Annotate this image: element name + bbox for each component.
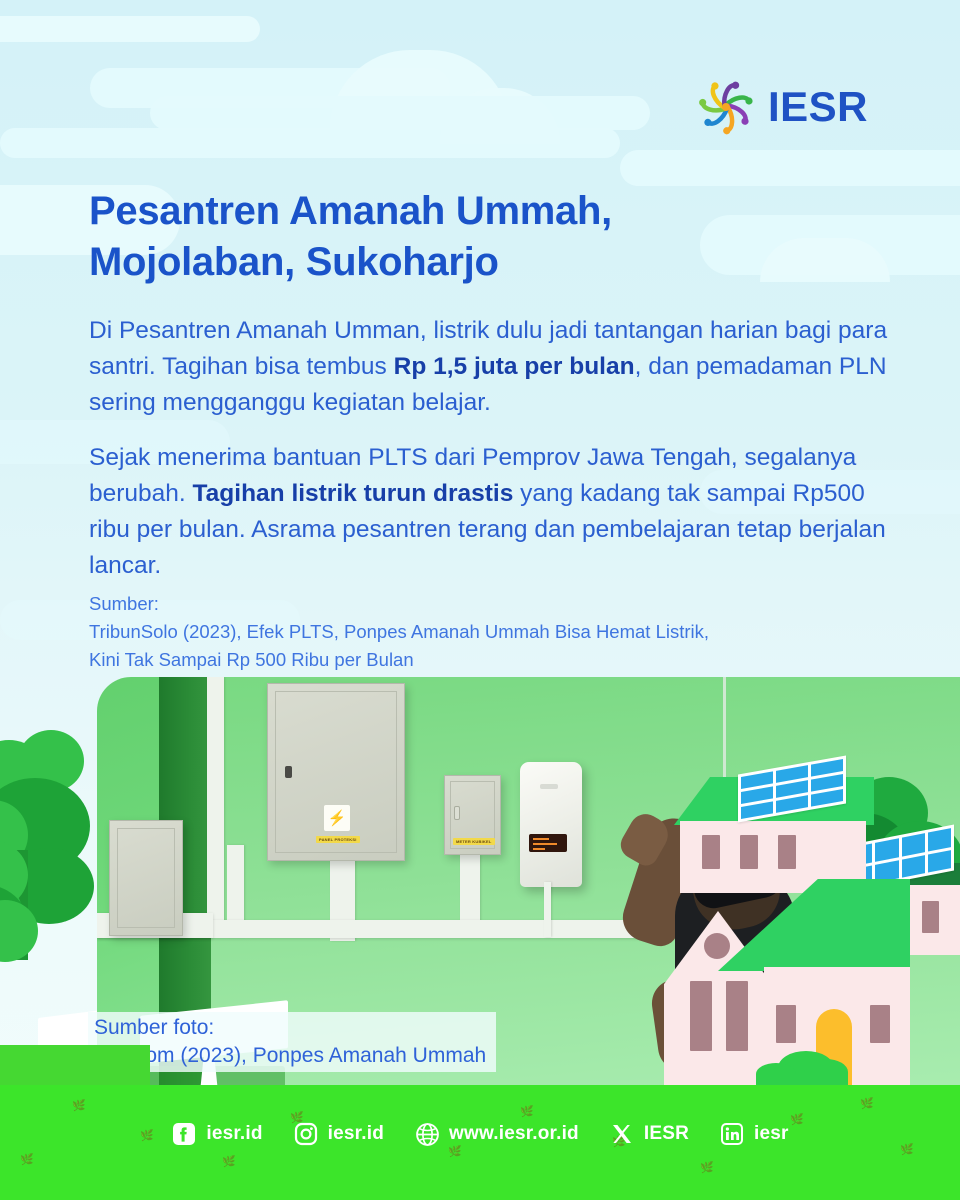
cloud-shape: [0, 16, 260, 42]
houses-illustration: [660, 755, 960, 1085]
source-citation: Sumber: TribunSolo (2023), Efek PLTS, Po…: [89, 590, 849, 674]
inverter-brand-mark: [540, 784, 558, 789]
globe-icon: [414, 1121, 440, 1147]
instagram-icon: [293, 1121, 319, 1147]
electrical-box-inner-frame: [117, 828, 175, 928]
grass-tuft-icon: 🌿: [72, 1101, 86, 1112]
house-window: [922, 901, 939, 933]
body-paragraph-2: Sejak menerima bantuan PLTS dari Pemprov…: [89, 440, 901, 584]
panel-lock-icon: [285, 766, 292, 778]
cloud-shape: [0, 128, 620, 158]
social-handle-facebook: iesr.id: [206, 1123, 262, 1145]
electrical-panel-secondary: METER KUBIKEL: [444, 775, 501, 855]
tree-illustration: [0, 840, 72, 1020]
brand-logo: IESR: [697, 78, 868, 136]
paragraph-1-highlight: Rp 1,5 juta per bulan: [394, 353, 635, 380]
facebook-icon: [171, 1121, 197, 1147]
bush-illustration: [804, 1059, 848, 1085]
social-handle-x-twitter: IESR: [644, 1123, 689, 1145]
iesr-pinwheel-logo-icon: [697, 78, 755, 136]
social-link-x-twitter[interactable]: IESR: [609, 1121, 689, 1147]
house-window: [776, 1005, 796, 1043]
social-handle-linkedin: iesr: [754, 1123, 789, 1145]
social-links-row: iesr.id iesr.id: [0, 1121, 960, 1147]
grass-tuft-icon: 🌿: [20, 1155, 34, 1166]
brand-logo-text: IESR: [768, 86, 868, 128]
social-handle-instagram: iesr.id: [328, 1123, 384, 1145]
grass-tuft-icon: 🌿: [448, 1147, 462, 1158]
ground-hill: [0, 1045, 150, 1085]
electrical-panel-main: ⚡ PANEL PROTEKSI: [267, 683, 405, 861]
electrical-hazard-sticker-icon: ⚡: [324, 805, 350, 831]
house-window: [870, 1005, 890, 1043]
cloud-shape: [620, 150, 960, 186]
house-tall-window: [726, 981, 748, 1051]
cloud-shape: [150, 96, 650, 130]
footer-bar: 🌿 🌿 🌿 🌿 🌿 🌿 🌿 🌿 🌿 🌿 🌿 🌿 iesr.id: [0, 1085, 960, 1200]
body-paragraph-1: Di Pesantren Amanah Umman, listrik dulu …: [89, 313, 901, 421]
panel-label-proteksi: PANEL PROTEKSI: [316, 836, 360, 843]
house-illustration-front: [660, 859, 910, 1085]
social-link-website[interactable]: www.iesr.or.id: [414, 1121, 579, 1147]
social-handle-website: www.iesr.or.id: [449, 1123, 579, 1145]
house-round-window: [704, 933, 730, 959]
grass-tuft-icon: 🌿: [222, 1157, 236, 1168]
grass-tuft-icon: 🌿: [700, 1163, 714, 1174]
inverter-cable-conduit: [544, 882, 551, 937]
panel-label-kubikel: METER KUBIKEL: [453, 838, 495, 845]
social-link-linkedin[interactable]: iesr: [719, 1121, 789, 1147]
house-tall-window: [690, 981, 712, 1051]
source-line-2: Kini Tak Sampai Rp 500 Ribu per Bulan: [89, 646, 849, 674]
linkedin-icon: [719, 1121, 745, 1147]
poster-canvas: IESR Pesantren Amanah Ummah, Mojolaban, …: [0, 0, 960, 1200]
solar-inverter-unit: [520, 762, 582, 887]
panel-lock-icon: [454, 806, 460, 820]
social-link-facebook[interactable]: iesr.id: [171, 1121, 262, 1147]
source-label: Sumber:: [89, 590, 849, 618]
paragraph-2-highlight: Tagihan listrik turun drastis: [193, 480, 514, 507]
page-title: Pesantren Amanah Ummah, Mojolaban, Sukoh…: [89, 186, 789, 288]
x-twitter-icon: [609, 1121, 635, 1147]
conduit-vertical: [207, 677, 224, 935]
electrical-box-small-left: [109, 820, 183, 936]
house-roof: [718, 879, 910, 971]
social-link-instagram[interactable]: iesr.id: [293, 1121, 384, 1147]
grass-tuft-icon: 🌿: [860, 1099, 874, 1110]
grass-tuft-icon: 🌿: [520, 1107, 534, 1118]
source-line-1: TribunSolo (2023), Efek PLTS, Ponpes Ama…: [89, 618, 849, 646]
bush-illustration: [756, 1063, 796, 1085]
inverter-display-screen: [529, 834, 567, 852]
